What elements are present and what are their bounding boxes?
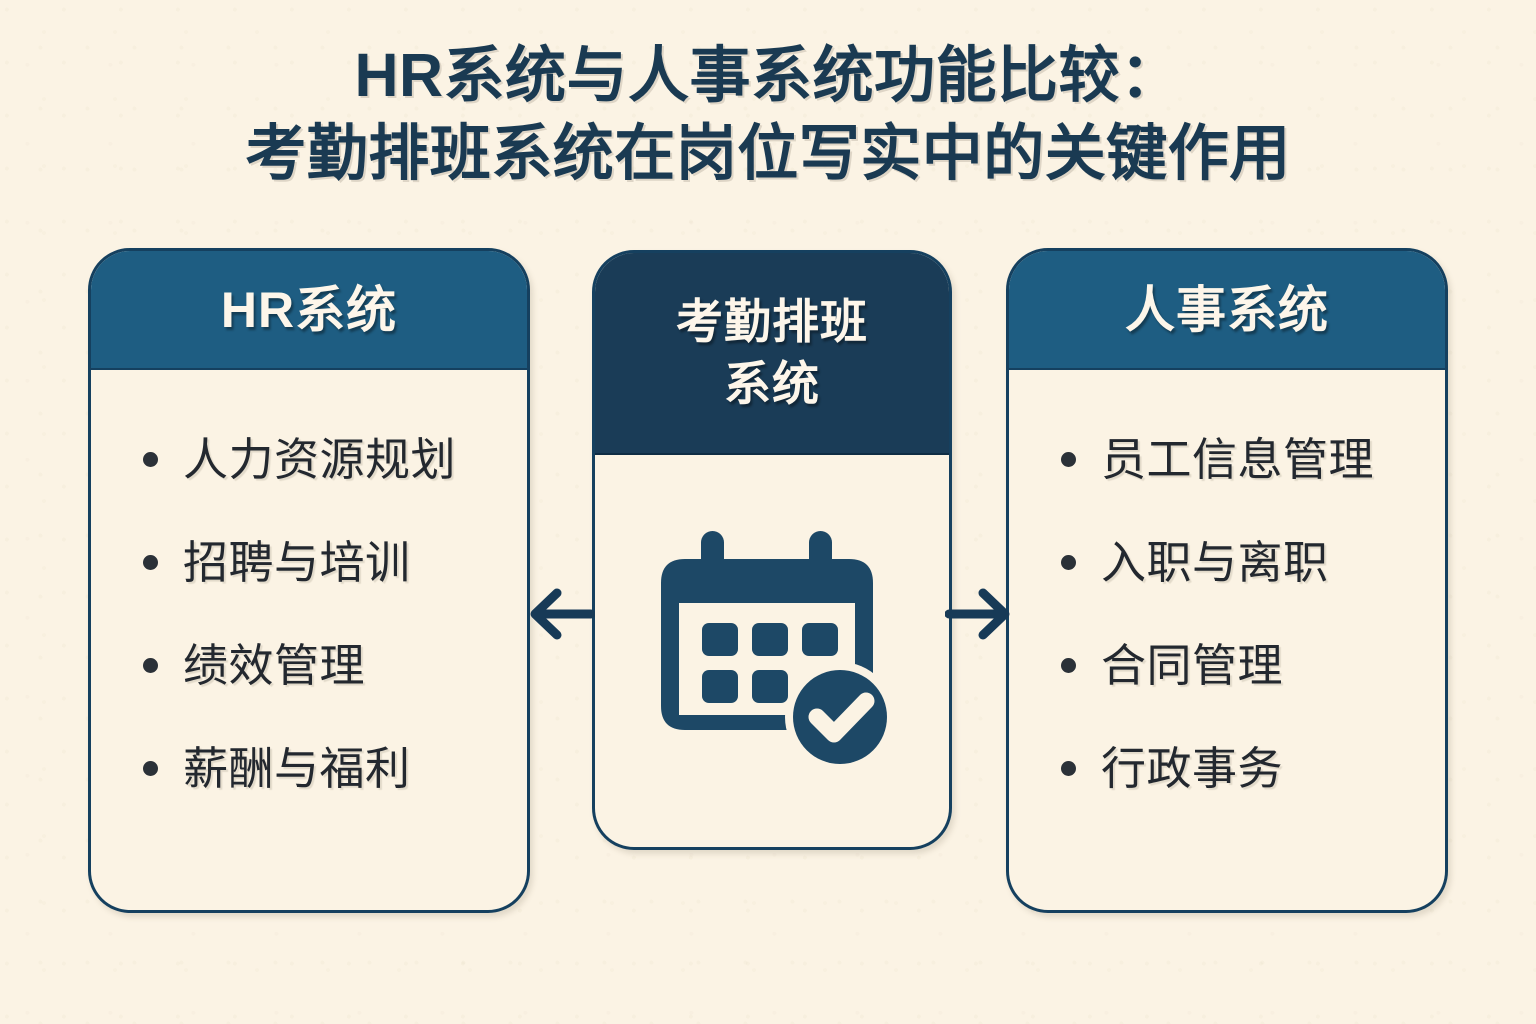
list-item[interactable]: 行政事务	[1061, 717, 1427, 820]
list-item-label: 合同管理	[1101, 640, 1283, 692]
bullet-dot-icon	[1061, 761, 1076, 776]
card-personnel-system-title: 人事系统	[1125, 281, 1329, 339]
personnel-system-feature-list: 员工信息管理 入职与离职 合同管理 行政事务	[1009, 408, 1445, 820]
bullet-dot-icon	[1061, 452, 1076, 467]
card-hr-system[interactable]: HR系统 人力资源规划 招聘与培训 绩效管理 薪酬与福利	[88, 248, 530, 913]
page-title: HR系统与人事系统功能比较： 考勤排班系统在岗位写实中的关键作用	[0, 36, 1536, 192]
page-title-line-1: HR系统与人事系统功能比较：	[0, 36, 1536, 114]
list-item[interactable]: 绩效管理	[143, 614, 509, 717]
bullet-dot-icon	[143, 555, 158, 570]
list-item[interactable]: 员工信息管理	[1061, 408, 1427, 511]
list-item-label: 行政事务	[1101, 743, 1283, 795]
bullet-dot-icon	[143, 452, 158, 467]
card-attendance-scheduling-title-line-1: 考勤排班	[676, 291, 868, 353]
list-item-label: 绩效管理	[183, 640, 365, 692]
page-title-line-2: 考勤排班系统在岗位写实中的关键作用	[0, 114, 1536, 192]
card-attendance-scheduling-header: 考勤排班 系统	[595, 253, 949, 455]
arrow-right-icon	[945, 583, 1013, 645]
list-item-label: 入职与离职	[1101, 537, 1329, 589]
list-item[interactable]: 合同管理	[1061, 614, 1427, 717]
card-hr-system-header: HR系统	[91, 251, 527, 370]
card-personnel-system-header: 人事系统	[1009, 251, 1445, 370]
list-item-label: 招聘与培训	[183, 537, 411, 589]
arrow-left-icon	[527, 583, 595, 645]
list-item[interactable]: 人力资源规划	[143, 408, 509, 511]
card-attendance-scheduling-title-line-2: 系统	[724, 353, 820, 415]
list-item[interactable]: 招聘与培训	[143, 511, 509, 614]
card-hr-system-body: 人力资源规划 招聘与培训 绩效管理 薪酬与福利	[91, 370, 527, 912]
list-item-label: 薪酬与福利	[183, 743, 411, 795]
list-item[interactable]: 薪酬与福利	[143, 717, 509, 820]
list-item[interactable]: 入职与离职	[1061, 511, 1427, 614]
bullet-dot-icon	[1061, 555, 1076, 570]
bullet-dot-icon	[1061, 658, 1076, 673]
hr-system-feature-list: 人力资源规划 招聘与培训 绩效管理 薪酬与福利	[91, 408, 527, 820]
card-personnel-system[interactable]: 人事系统 员工信息管理 入职与离职 合同管理 行政事务	[1006, 248, 1448, 913]
card-personnel-system-body: 员工信息管理 入职与离职 合同管理 行政事务	[1009, 370, 1445, 912]
card-hr-system-title: HR系统	[221, 281, 397, 339]
list-item-label: 人力资源规划	[183, 434, 456, 486]
card-attendance-scheduling-system[interactable]: 考勤排班 系统	[592, 250, 952, 850]
card-attendance-scheduling-body	[595, 455, 949, 849]
calendar-check-icon	[637, 525, 907, 780]
bullet-dot-icon	[143, 761, 158, 776]
list-item-label: 员工信息管理	[1101, 434, 1374, 486]
bullet-dot-icon	[143, 658, 158, 673]
